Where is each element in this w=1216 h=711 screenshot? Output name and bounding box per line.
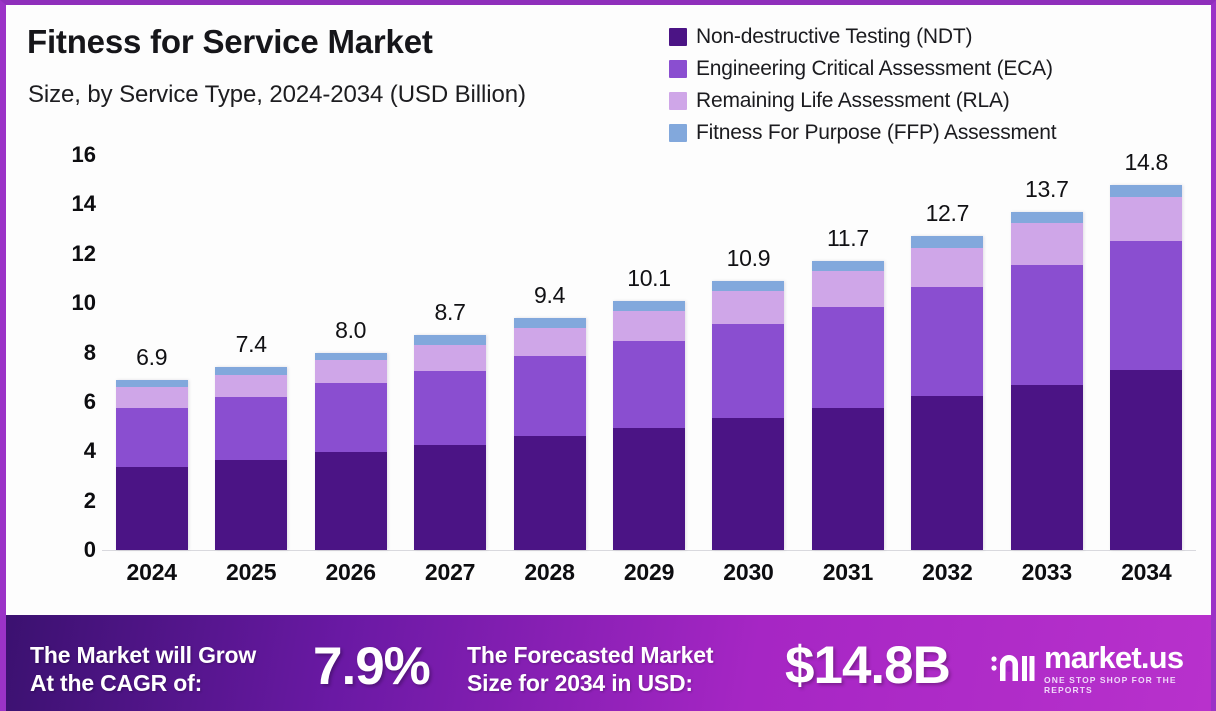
y-axis-tick-label: 2	[84, 488, 96, 514]
legend-swatch-icon	[669, 92, 687, 110]
forecast-size-label-line1: The Forecasted Market	[467, 641, 713, 669]
x-axis: 2024202520262027202820292030203120322033…	[102, 155, 1196, 610]
forecast-size-label-line2: Size for 2034 in USD:	[467, 669, 713, 697]
x-axis-tick-label: 2029	[604, 559, 694, 586]
y-axis-tick-label: 0	[84, 537, 96, 563]
x-axis-tick-label: 2034	[1101, 559, 1191, 586]
x-axis-tick-label: 2026	[306, 559, 396, 586]
chart-plot-area: 0246810121416 6.97.48.08.79.410.110.911.…	[6, 155, 1211, 610]
x-axis-tick-label: 2031	[803, 559, 893, 586]
y-axis-tick-label: 14	[72, 191, 96, 217]
y-axis: 0246810121416	[50, 155, 96, 555]
cagr-label-line1: The Market will Grow	[30, 641, 256, 669]
page-title: Fitness for Service Market	[27, 23, 433, 61]
legend-item-label: Non-destructive Testing (NDT)	[696, 25, 972, 49]
forecast-size-value: $14.8B	[785, 635, 950, 696]
cagr-value: 7.9%	[313, 636, 430, 697]
cagr-label-line2: At the CAGR of:	[30, 669, 256, 697]
legend-item[interactable]: Engineering Critical Assessment (ECA)	[669, 53, 1209, 85]
legend-item-label: Engineering Critical Assessment (ECA)	[696, 57, 1053, 81]
y-axis-tick-label: 12	[72, 241, 96, 267]
x-axis-tick-label: 2027	[405, 559, 495, 586]
page-subtitle: Size, by Service Type, 2024-2034 (USD Bi…	[28, 81, 526, 109]
y-axis-tick-label: 10	[72, 290, 96, 316]
legend-item-label: Fitness For Purpose (FFP) Assessment	[696, 121, 1056, 145]
market-us-logo[interactable]: market.us ONE STOP SHOP FOR THE REPORTS	[990, 643, 1211, 695]
legend-swatch-icon	[669, 124, 687, 142]
y-axis-tick-label: 4	[84, 438, 96, 464]
logo-name: market.us	[1044, 643, 1211, 672]
y-axis-tick-label: 8	[84, 340, 96, 366]
logo-tagline: ONE STOP SHOP FOR THE REPORTS	[1044, 675, 1211, 695]
x-axis-tick-label: 2024	[107, 559, 197, 586]
x-axis-tick-label: 2030	[703, 559, 793, 586]
footer-banner: The Market will Grow At the CAGR of: 7.9…	[6, 615, 1211, 711]
legend-item[interactable]: Fitness For Purpose (FFP) Assessment	[669, 117, 1209, 149]
market-us-logo-icon	[990, 650, 1036, 689]
y-axis-tick-label: 16	[72, 142, 96, 168]
legend-swatch-icon	[669, 28, 687, 46]
legend-swatch-icon	[669, 60, 687, 78]
x-axis-tick-label: 2025	[206, 559, 296, 586]
x-axis-tick-label: 2033	[1002, 559, 1092, 586]
chart-legend: Non-destructive Testing (NDT)Engineering…	[669, 21, 1209, 149]
forecast-size-label: The Forecasted Market Size for 2034 in U…	[467, 641, 713, 697]
x-axis-tick-label: 2028	[505, 559, 595, 586]
y-axis-tick-label: 6	[84, 389, 96, 415]
infographic-root: Fitness for Service Market Size, by Serv…	[0, 0, 1216, 711]
legend-item[interactable]: Non-destructive Testing (NDT)	[669, 21, 1209, 53]
x-axis-tick-label: 2032	[902, 559, 992, 586]
cagr-label: The Market will Grow At the CAGR of:	[30, 641, 256, 697]
legend-item-label: Remaining Life Assessment (RLA)	[696, 89, 1010, 113]
market-us-logo-text: market.us ONE STOP SHOP FOR THE REPORTS	[1044, 643, 1211, 695]
legend-item[interactable]: Remaining Life Assessment (RLA)	[669, 85, 1209, 117]
